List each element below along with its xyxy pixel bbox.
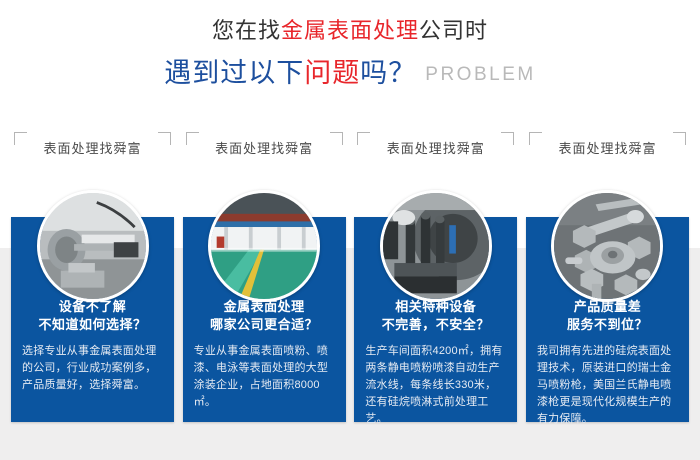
card-tag: 表面处理找舜富 <box>357 132 514 162</box>
card-description: 我司拥有先进的硅烷表面处理技术，原装进口的瑞士金马喷粉枪，美国兰氏静电喷漆枪更是… <box>537 343 678 428</box>
card-tag-label: 表面处理找舜富 <box>43 138 141 157</box>
bracket-corner-right-icon <box>330 132 343 145</box>
bracket-corner-left-icon <box>14 132 27 145</box>
heading-line2-suffix: 吗？ <box>360 58 416 88</box>
problem-card: 表面处理找舜富 <box>526 132 689 432</box>
bracket-corner-left-icon <box>186 132 199 145</box>
problem-section: 您在找金属表面处理公司时 遇到过以下问题吗？PROBLEM 表面处理找舜富 <box>0 0 700 460</box>
heading-line1-suffix: 公司时 <box>419 18 488 43</box>
card-text: 设备不了解 不知道如何选择？ 选择专业从事金属表面处理的公司，行业成功案例多，产… <box>11 298 174 394</box>
bracket-corner-right-icon <box>158 132 171 145</box>
bolts-nuts-illustration <box>554 193 660 299</box>
card-title-line-2: 不知道如何选择？ <box>22 316 163 334</box>
heading-line1-highlight: 金属表面处理 <box>281 18 419 43</box>
bracket-corner-left-icon <box>357 132 370 145</box>
problem-card: 表面处理找舜富 <box>183 132 346 432</box>
card-title: 设备不了解 不知道如何选择？ <box>22 298 163 334</box>
card-text: 金属表面处理 哪家公司更合适？ 专业从事金属表面喷粉、喷漆、电泳等表面处理的大型… <box>183 298 346 411</box>
factory-workshop-illustration <box>211 193 317 299</box>
bracket-corner-right-icon <box>501 132 514 145</box>
card-title: 相关特种设备 不完善，不安全？ <box>365 298 506 334</box>
factory-workshop-photo <box>208 190 320 302</box>
card-title-line-1: 设备不了解 <box>22 298 163 316</box>
lathe-machining-photo <box>37 190 149 302</box>
bracket-corner-left-icon <box>529 132 542 145</box>
heading-line2-highlight: 问题 <box>304 58 360 88</box>
card-title-line-2: 服务不到位？ <box>537 316 678 334</box>
card-title-line-1: 相关特种设备 <box>365 298 506 316</box>
heading-line-2: 遇到过以下问题吗？PROBLEM <box>0 55 700 93</box>
heading-line2-prefix: 遇到过以下 <box>164 58 304 88</box>
card-description: 选择专业从事金属表面处理的公司，行业成功案例多，产品质量好，选择舜富。 <box>22 343 163 394</box>
card-tag: 表面处理找舜富 <box>186 132 343 162</box>
card-title-line-2: 哪家公司更合适？ <box>194 316 335 334</box>
heading-line1-prefix: 您在找 <box>212 18 281 43</box>
card-tag: 表面处理找舜富 <box>529 132 686 162</box>
card-text: 产品质量差 服务不到位？ 我司拥有先进的硅烷表面处理技术，原装进口的瑞士金马喷粉… <box>526 298 689 428</box>
card-title: 金属表面处理 哪家公司更合适？ <box>194 298 335 334</box>
card-title-line-1: 金属表面处理 <box>194 298 335 316</box>
problem-card: 表面处理找舜富 <box>354 132 517 432</box>
card-text: 相关特种设备 不完善，不安全？ 生产车间面积4200㎡，拥有两条静电喷粉喷漆自动… <box>354 298 517 428</box>
card-title: 产品质量差 服务不到位？ <box>537 298 678 334</box>
problem-card: 表面处理找舜富 <box>11 132 174 432</box>
card-description: 专业从事金属表面喷粉、喷漆、电泳等表面处理的大型涂装企业，占地面积8000㎡。 <box>194 343 335 411</box>
card-description: 生产车间面积4200㎡，拥有两条静电喷粉喷漆自动生产流水线，每条线长330米，还… <box>365 343 506 428</box>
card-tag: 表面处理找舜富 <box>14 132 171 162</box>
problem-card-list: 表面处理找舜富 <box>0 132 700 432</box>
section-heading: 您在找金属表面处理公司时 遇到过以下问题吗？PROBLEM <box>0 16 700 93</box>
card-title-line-2: 不完善，不安全？ <box>365 316 506 334</box>
lathe-machining-illustration <box>40 193 146 299</box>
card-tag-label: 表面处理找舜富 <box>558 138 656 157</box>
tooling-equipment-illustration <box>383 193 489 299</box>
bracket-corner-right-icon <box>673 132 686 145</box>
card-tag-label: 表面处理找舜富 <box>387 138 485 157</box>
heading-english-label: PROBLEM <box>425 64 535 85</box>
bolts-nuts-photo <box>551 190 663 302</box>
tooling-equipment-photo <box>380 190 492 302</box>
card-title-line-1: 产品质量差 <box>537 298 678 316</box>
heading-line-1: 您在找金属表面处理公司时 <box>0 16 700 46</box>
card-tag-label: 表面处理找舜富 <box>215 138 313 157</box>
